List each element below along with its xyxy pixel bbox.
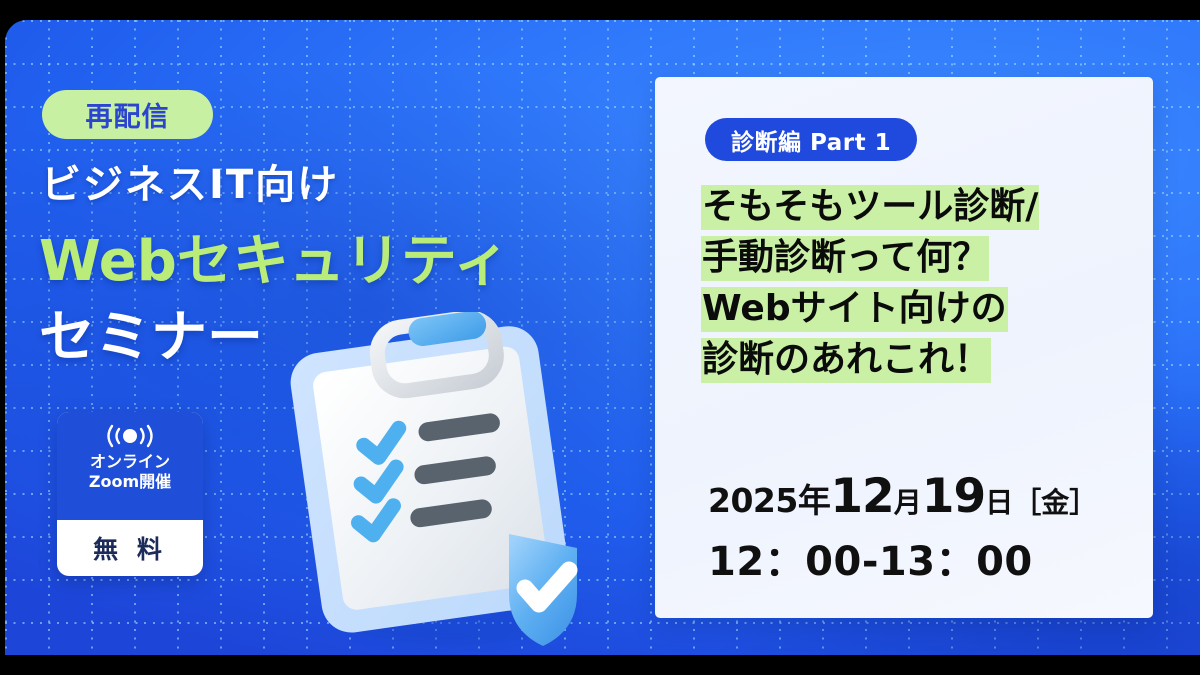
part-badge-label: 診断編 Part 1 bbox=[731, 123, 891, 157]
date-month-unit: 月 bbox=[894, 486, 922, 519]
seminar-banner: 再配信 ビジネスIT向け Webセキュリティ セミナー オンライン Zoom開催… bbox=[5, 20, 1200, 655]
date-weekday: ［金］ bbox=[1013, 486, 1097, 519]
online-info-card: オンライン Zoom開催 無 料 bbox=[57, 412, 203, 576]
headline-line: Webサイト向けの bbox=[701, 287, 1008, 332]
rebroadcast-badge-label: 再配信 bbox=[86, 95, 170, 134]
online-card-text: オンライン Zoom開催 bbox=[89, 452, 171, 492]
clipboard-checklist-shield-illustration bbox=[277, 312, 617, 652]
headline-line: 手動診断って何？ bbox=[701, 236, 989, 281]
date-year: 2025年 bbox=[708, 481, 830, 520]
headline-line: 診断のあれこれ！ bbox=[701, 338, 991, 383]
session-time: 12：00-13：00 bbox=[708, 529, 1097, 587]
price-free-label: 無 料 bbox=[57, 520, 203, 576]
poster-stage: 再配信 ビジネスIT向け Webセキュリティ セミナー オンライン Zoom開催… bbox=[0, 0, 1200, 675]
online-card-top: オンライン Zoom開催 bbox=[57, 412, 203, 520]
rebroadcast-badge: 再配信 bbox=[42, 90, 213, 139]
broadcast-wave-icon bbox=[100, 423, 160, 449]
part-badge: 診断編 Part 1 bbox=[705, 118, 917, 161]
zoom-label: Zoom開催 bbox=[89, 472, 171, 492]
title-line-2: セミナー bbox=[39, 292, 263, 373]
kicker-text: ビジネスIT向け bbox=[41, 152, 339, 210]
session-date-row: 2025年12月19日［金］ bbox=[708, 473, 1097, 520]
date-month-number: 12 bbox=[830, 469, 893, 524]
session-datetime: 2025年12月19日［金］ 12：00-13：00 bbox=[708, 473, 1097, 587]
date-day-unit: 日 bbox=[985, 486, 1013, 519]
session-headline: そもそもツール診断/ 手動診断って何？ Webサイト向けの 診断のあれこれ！ bbox=[701, 185, 1131, 389]
date-day-number: 19 bbox=[922, 469, 985, 524]
title-line-1: Webセキュリティ bbox=[39, 216, 509, 297]
online-label: オンライン bbox=[89, 452, 171, 472]
headline-line: そもそもツール診断/ bbox=[701, 185, 1039, 230]
session-detail-card: 診断編 Part 1 そもそもツール診断/ 手動診断って何？ Webサイト向けの… bbox=[655, 77, 1153, 618]
